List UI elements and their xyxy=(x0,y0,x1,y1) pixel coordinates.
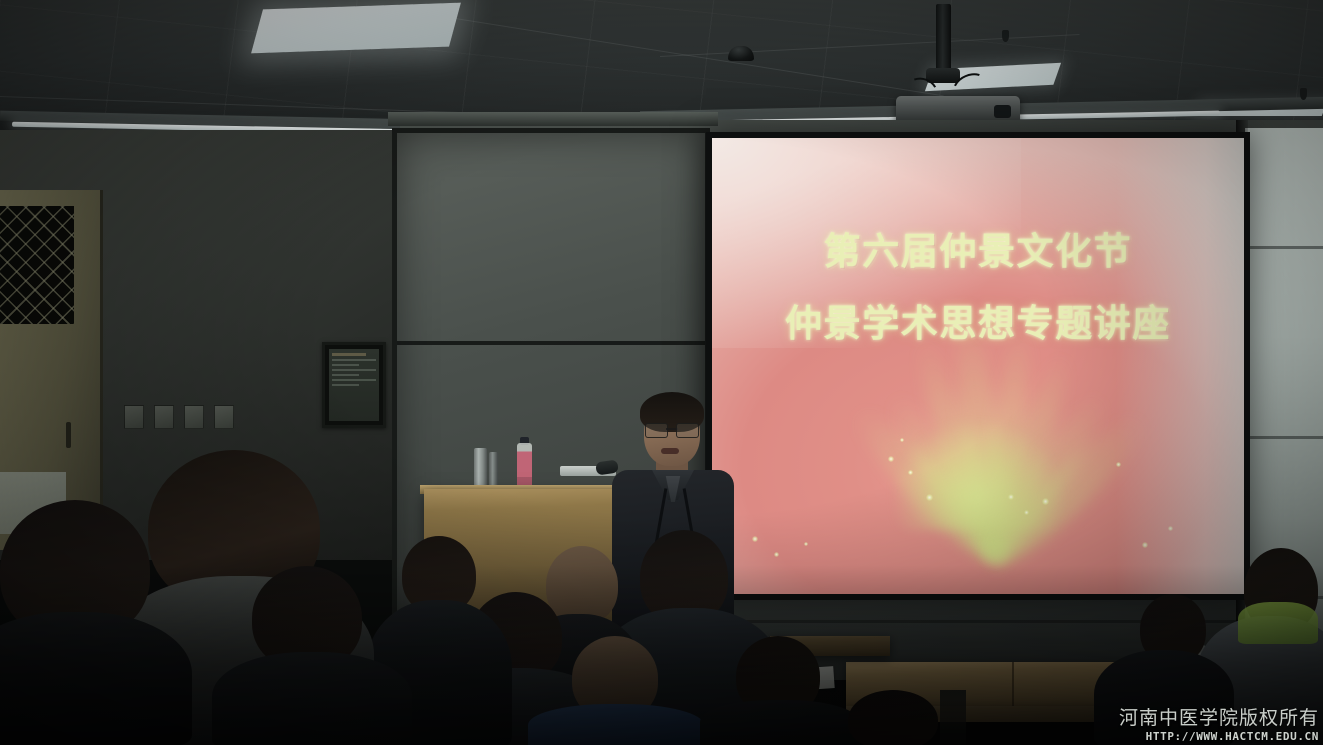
sparkle-dot xyxy=(1008,494,1014,500)
wall-line xyxy=(1245,436,1323,439)
light-switch[interactable] xyxy=(214,405,234,429)
bench-leg xyxy=(940,690,966,745)
light-switch[interactable] xyxy=(124,405,144,429)
notice-content xyxy=(329,349,379,421)
sprinkler-head xyxy=(1002,30,1009,42)
sparkle-dot xyxy=(1042,498,1049,505)
notice-text-line xyxy=(332,379,376,381)
audience-head xyxy=(848,690,938,745)
board-divider-rail xyxy=(397,341,705,345)
classroom-door[interactable] xyxy=(0,190,103,550)
slide-title-line2: 仲景学术思想专题讲座 xyxy=(712,288,1244,360)
bench-seam xyxy=(1012,662,1014,706)
notice-text-line xyxy=(332,364,359,366)
sparkle-dot xyxy=(752,536,758,542)
sparkle-dot xyxy=(774,552,779,557)
sparkle-dot xyxy=(804,542,808,546)
dome-camera-icon xyxy=(728,46,754,61)
sparkle-dot xyxy=(900,438,904,442)
light-switch[interactable] xyxy=(184,405,204,429)
audience-head xyxy=(546,546,618,624)
audience-shoulders xyxy=(0,612,192,745)
notice-text-line xyxy=(332,384,359,386)
audience-shoulders xyxy=(528,704,704,745)
slide-title-block: 第六届仲景文化节 仲景学术思想专题讲座 xyxy=(712,216,1244,360)
light-switch[interactable] xyxy=(154,405,174,429)
projector-mount-stem xyxy=(936,4,951,70)
sprinkler-head xyxy=(1300,88,1307,100)
board-top-trim xyxy=(388,112,718,126)
audience-shoulders xyxy=(700,700,860,745)
presenter-mouth xyxy=(661,448,679,454)
projected-slide: 第六届仲景文化节 仲景学术思想专题讲座 xyxy=(712,138,1244,594)
notice-heading-line xyxy=(332,353,366,356)
audience-shoulders xyxy=(212,652,412,745)
notice-text-line xyxy=(332,359,376,361)
sparkle-star xyxy=(946,438,990,482)
thermos-flask xyxy=(474,448,487,490)
lecture-hall-photo: 第六届仲景文化节 仲景学术思想专题讲座 xyxy=(0,0,1323,745)
sparkle-dot xyxy=(888,456,894,462)
notice-text-line xyxy=(332,374,359,376)
notice-text-line xyxy=(332,369,376,371)
water-bottle xyxy=(517,443,532,490)
sparkle-dot xyxy=(908,470,913,475)
light-switch-panel[interactable] xyxy=(124,405,234,429)
sparkle-star xyxy=(978,536,1008,566)
wall-line xyxy=(1245,246,1323,249)
audience-shoulders xyxy=(1094,650,1234,745)
sparkle-dot xyxy=(1024,510,1029,515)
slide-edge-wash xyxy=(1116,138,1244,594)
framed-notice-board xyxy=(322,342,386,428)
ceiling-light-panel xyxy=(251,3,461,54)
slide-title-line1: 第六届仲景文化节 xyxy=(712,216,1244,288)
audience-scarf xyxy=(1238,602,1318,644)
door-lattice-window xyxy=(0,206,74,324)
projection-screen: 第六届仲景文化节 仲景学术思想专题讲座 xyxy=(706,132,1250,600)
sparkle-dot xyxy=(926,494,933,501)
glasses-icon xyxy=(645,423,699,436)
door-handle[interactable] xyxy=(66,422,71,448)
